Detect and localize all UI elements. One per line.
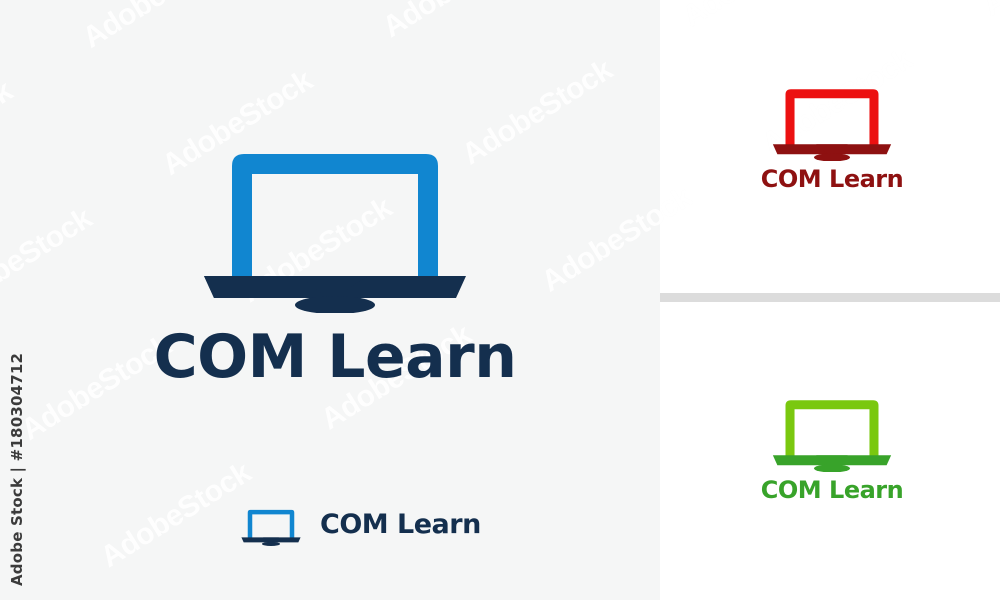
logo-lockup-green: COM Learn	[762, 393, 902, 502]
wordmark-horizontal: COM Learn	[320, 511, 481, 538]
panel-divider	[660, 293, 1000, 302]
laptop-book-icon	[762, 393, 902, 472]
wordmark-green: COM Learn	[761, 478, 903, 502]
logo-lockup-red: COM Learn	[762, 82, 902, 191]
logo-presentation-canvas: COM Learn COM Learn COM Learn COM Learn	[0, 0, 1000, 600]
wordmark-red: COM Learn	[761, 167, 903, 191]
laptop-book-icon	[180, 138, 490, 313]
logo-lockup-primary: COM Learn	[180, 138, 490, 387]
wordmark-primary: COM Learn	[154, 327, 517, 387]
laptop-book-icon	[236, 500, 306, 552]
adobe-stock-caption: Adobe Stock | #180304712	[0, 0, 34, 600]
logo-lockup-horizontal: COM Learn	[236, 500, 481, 552]
adobe-stock-caption-text: Adobe Stock | #180304712	[8, 353, 26, 586]
laptop-book-icon	[762, 82, 902, 161]
